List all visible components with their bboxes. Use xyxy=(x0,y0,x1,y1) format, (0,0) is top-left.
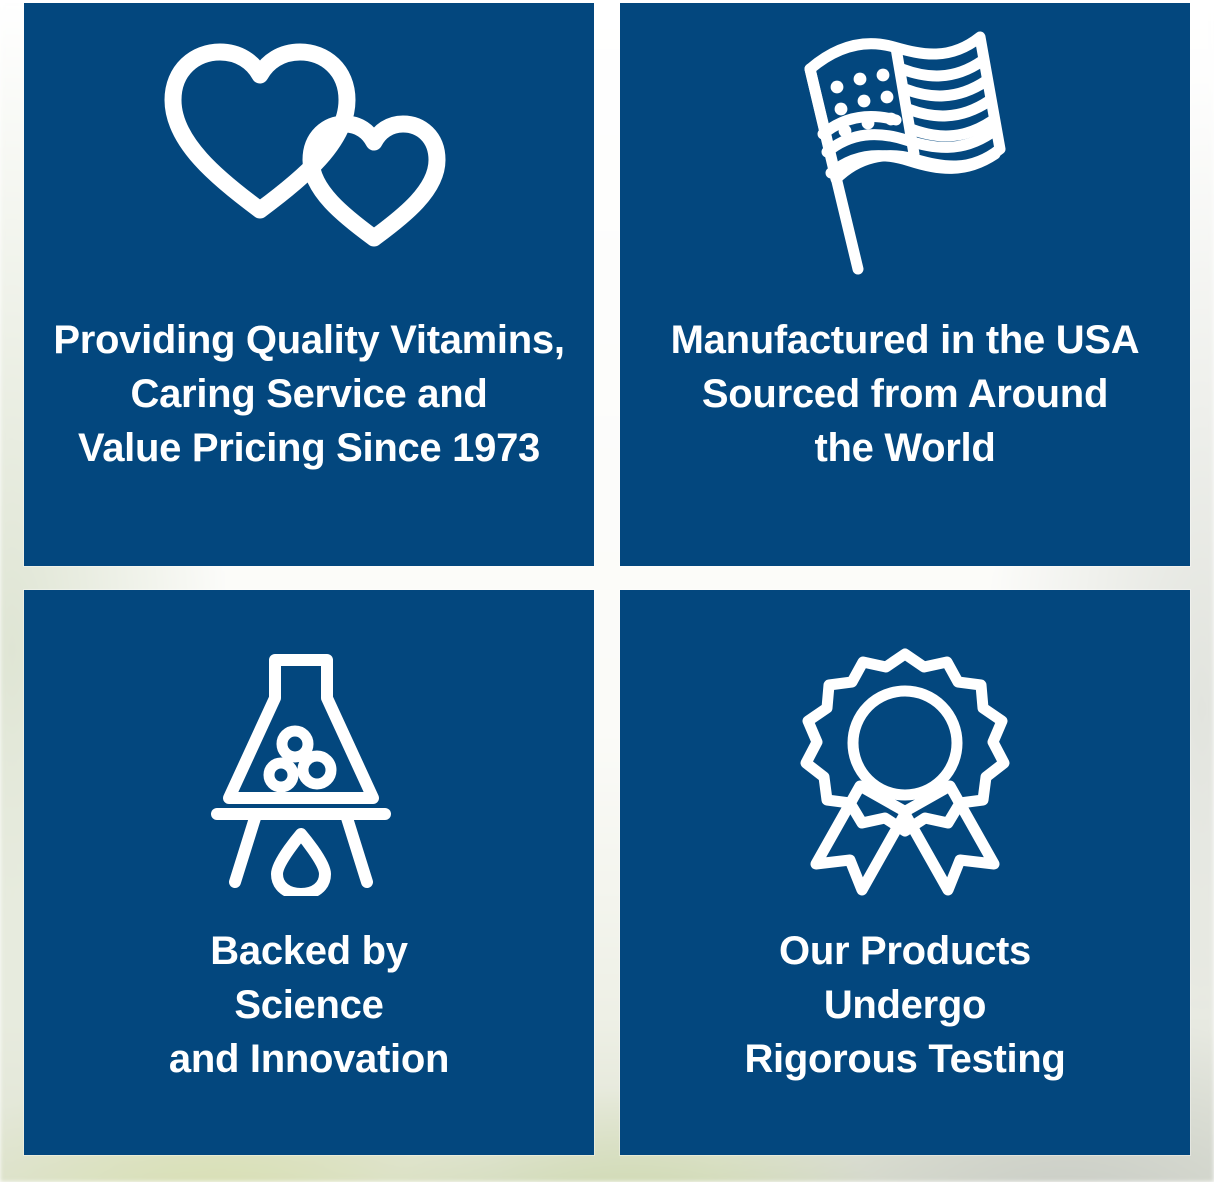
panel-icon-wrapper xyxy=(620,590,1190,910)
value-panel-made-in-usa[interactable]: Manufactured in the USA Sourced from Aro… xyxy=(620,3,1190,566)
panel-title-quality-vitamins: Providing Quality Vitamins, Caring Servi… xyxy=(53,313,564,475)
value-panel-quality-vitamins[interactable]: Providing Quality Vitamins, Caring Servi… xyxy=(24,3,594,566)
flask-bubbles xyxy=(269,731,331,787)
usa-flag-icon xyxy=(790,21,1020,286)
value-panel-rigorous-testing[interactable]: Our Products Undergo Rigorous Testing xyxy=(620,590,1190,1155)
value-proposition-grid: Providing Quality Vitamins, Caring Servi… xyxy=(24,3,1190,1155)
science-flask-icon xyxy=(209,646,409,896)
panel-icon-wrapper xyxy=(24,590,594,910)
value-panel-backed-by-science[interactable]: Backed by Science and Innovation xyxy=(24,590,594,1155)
panel-icon-wrapper xyxy=(24,3,594,303)
award-ribbon-icon xyxy=(798,646,1013,896)
two-hearts-icon xyxy=(159,38,459,268)
panel-title-backed-by-science: Backed by Science and Innovation xyxy=(169,924,449,1086)
panel-icon-wrapper xyxy=(620,3,1190,303)
flag-stars xyxy=(831,68,898,137)
panel-title-made-in-usa: Manufactured in the USA Sourced from Aro… xyxy=(671,313,1140,475)
panel-title-rigorous-testing: Our Products Undergo Rigorous Testing xyxy=(744,924,1065,1086)
